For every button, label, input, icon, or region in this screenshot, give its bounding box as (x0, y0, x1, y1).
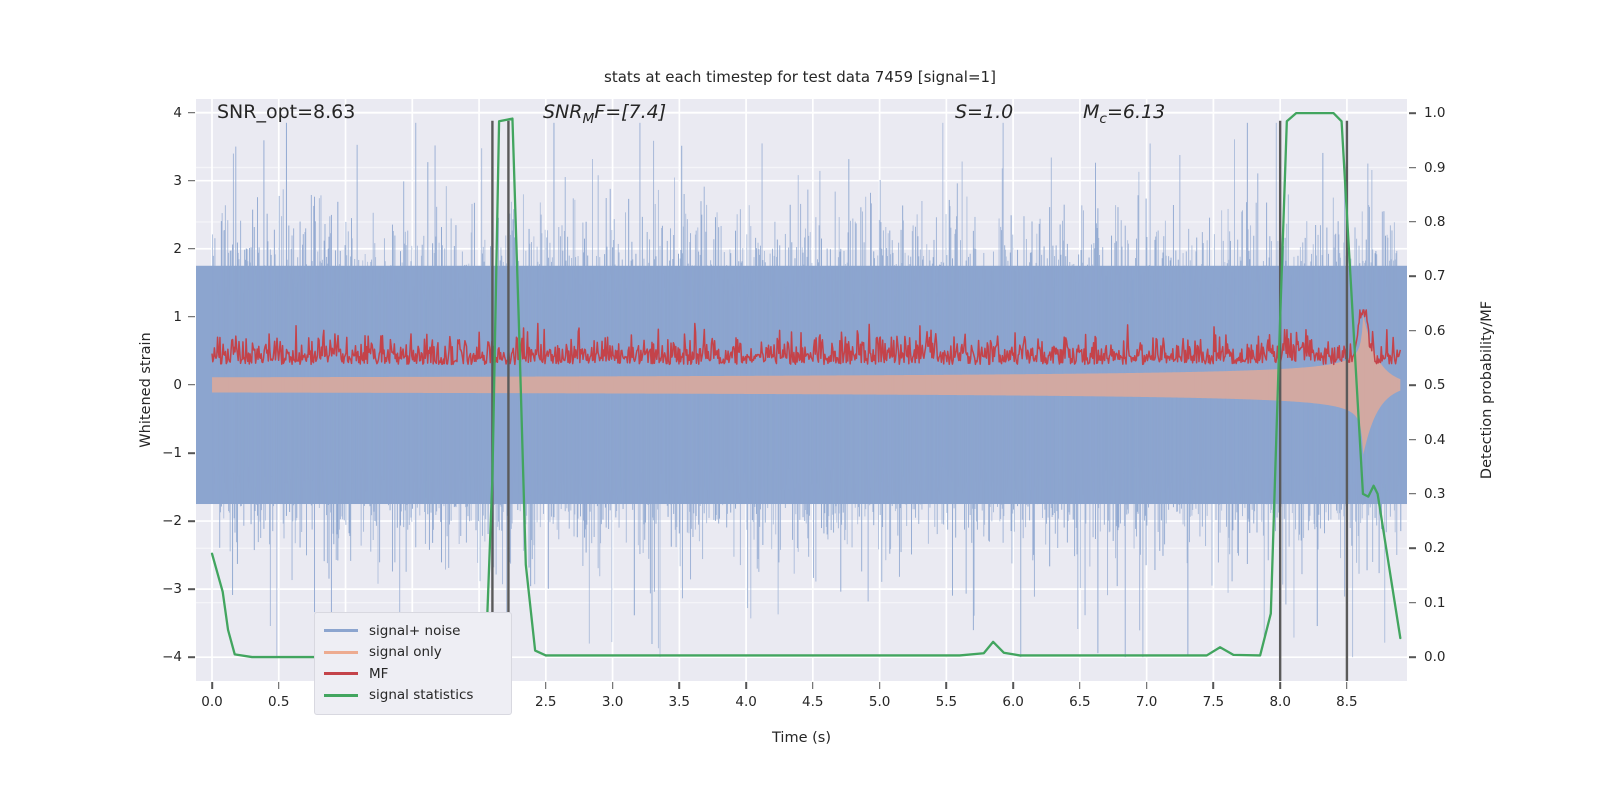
x-axis-tick-label: 5.0 (869, 694, 890, 710)
y-axis-right-tick-mark (1409, 330, 1416, 332)
legend-item[interactable]: signal statistics (324, 685, 502, 707)
y-axis-right-tick-label: 0.5 (1424, 377, 1445, 393)
x-axis-tick-label: 6.5 (1069, 694, 1090, 710)
y-axis-left-tick-label: 1 (173, 309, 182, 325)
plot-title: stats at each timestep for test data 745… (0, 68, 1600, 86)
x-axis-tick-mark (1012, 682, 1014, 689)
legend-item[interactable]: signal only (324, 642, 502, 664)
x-axis-tick-label: 8.5 (1336, 694, 1357, 710)
y-axis-left-tick-label: −2 (162, 513, 182, 529)
x-axis-tick-label: 4.5 (802, 694, 823, 710)
legend-item[interactable]: MF (324, 663, 502, 685)
y-axis-right-tick-label: 0.6 (1424, 323, 1445, 339)
legend: signal+ noisesignal onlyMFsignal statist… (314, 612, 512, 715)
y-axis-right-tick-mark (1409, 167, 1416, 169)
plot-svg (196, 99, 1407, 681)
legend-item-label: MF (369, 666, 388, 682)
y-axis-right-label-text: Detection probability/MF (1479, 301, 1495, 479)
x-axis-tick-label: 4.0 (735, 694, 756, 710)
plot-area (196, 99, 1407, 681)
x-axis-tick-label: 7.5 (1203, 694, 1224, 710)
y-axis-right-tick-label: 0.1 (1424, 595, 1445, 611)
y-axis-left-tick-mark (188, 588, 195, 590)
x-axis-tick-mark (211, 682, 213, 689)
x-axis-tick-mark (745, 682, 747, 689)
y-axis-right-tick-label: 0.2 (1424, 540, 1445, 556)
y-axis-right-tick-label: 0.0 (1424, 649, 1445, 665)
annotation-snr-opt: SNR_opt=8.63 (217, 101, 355, 123)
y-axis-right-tick-label: 0.7 (1424, 268, 1445, 284)
y-axis-right-tick-mark (1409, 602, 1416, 604)
y-axis-right-tick-mark (1409, 493, 1416, 495)
legend-swatch-icon (324, 672, 358, 675)
y-axis-right-tick-mark (1409, 112, 1416, 114)
x-axis-label: Time (s) (196, 730, 1407, 746)
x-axis-tick-mark (879, 682, 881, 689)
legend-swatch-icon (324, 651, 358, 654)
y-axis-right-tick-mark (1409, 439, 1416, 441)
x-axis-tick-label: 6.0 (1002, 694, 1023, 710)
legend-item-label: signal statistics (369, 687, 473, 703)
x-axis-tick-mark (812, 682, 814, 689)
x-axis-tick-label: 2.5 (535, 694, 556, 710)
y-axis-right-tick-mark (1409, 221, 1416, 223)
x-axis-tick-label: 0.0 (201, 694, 222, 710)
y-axis-left-tick-mark (188, 316, 195, 318)
y-axis-right-tick-mark (1409, 384, 1416, 386)
x-axis-tick-mark (946, 682, 948, 689)
x-axis-tick-label: 3.5 (669, 694, 690, 710)
y-axis-left-tick-label: −1 (162, 445, 182, 461)
y-axis-left-tick-mark (188, 180, 195, 182)
annotation-snr-mf: SNRMF=[7.4] (543, 101, 666, 127)
y-axis-left-tick-mark (188, 384, 195, 386)
x-axis-tick-mark (545, 682, 547, 689)
x-axis-tick-mark (1346, 682, 1348, 689)
y-axis-right-tick-mark (1409, 276, 1416, 278)
x-axis-tick-mark (679, 682, 681, 689)
y-axis-left-tick-label: −3 (162, 581, 182, 597)
legend-item-label: signal only (369, 644, 442, 660)
y-axis-left-tick-label: −4 (162, 649, 182, 665)
y-axis-left-label-text: Whitened strain (138, 332, 154, 447)
x-axis-tick-mark (1279, 682, 1281, 689)
legend-item[interactable]: signal+ noise (324, 620, 502, 642)
annotation-signal-flag: S=1.0 (955, 101, 1013, 123)
legend-item-label: signal+ noise (369, 623, 460, 639)
annotation-chirp-mass: Mc=6.13 (1083, 101, 1165, 127)
y-axis-left-tick-label: 2 (173, 241, 182, 257)
x-axis-tick-mark (1146, 682, 1148, 689)
x-axis-tick-label: 5.5 (936, 694, 957, 710)
y-axis-left-tick-label: 3 (173, 173, 182, 189)
legend-swatch-icon (324, 694, 358, 697)
y-axis-left-tick-mark (188, 520, 195, 522)
y-axis-right-tick-mark (1409, 548, 1416, 550)
y-axis-right-tick-label: 0.8 (1424, 214, 1445, 230)
figure-canvas: stats at each timestep for test data 745… (0, 0, 1600, 800)
y-axis-right-tick-mark (1409, 656, 1416, 658)
x-axis-tick-label: 7.0 (1136, 694, 1157, 710)
x-axis-tick-label: 0.5 (268, 694, 289, 710)
x-axis-tick-mark (612, 682, 614, 689)
x-axis-tick-mark (1079, 682, 1081, 689)
x-axis-tick-mark (1213, 682, 1215, 689)
y-axis-right-tick-label: 0.4 (1424, 432, 1445, 448)
y-axis-left-tick-mark (188, 452, 195, 454)
y-axis-right-tick-label: 1.0 (1424, 105, 1445, 121)
y-axis-left-tick-mark (188, 112, 195, 114)
x-axis-tick-label: 3.0 (602, 694, 623, 710)
y-axis-right-tick-label: 0.3 (1424, 486, 1445, 502)
y-axis-left-tick-mark (188, 248, 195, 250)
y-axis-right-tick-label: 0.9 (1424, 160, 1445, 176)
x-axis-tick-mark (278, 682, 280, 689)
y-axis-left-tick-label: 4 (173, 105, 182, 121)
y-axis-left-tick-label: 0 (173, 377, 182, 393)
x-axis-tick-label: 8.0 (1269, 694, 1290, 710)
y-axis-left-tick-mark (188, 656, 195, 658)
legend-swatch-icon (324, 629, 358, 632)
